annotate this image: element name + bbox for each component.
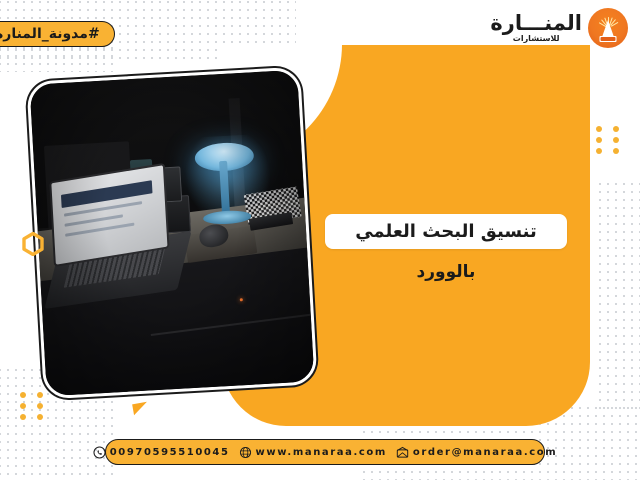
globe-icon	[239, 446, 252, 459]
page-subtitle: بالوورد	[417, 262, 476, 282]
website-url: www.manaraa.com	[256, 447, 387, 458]
brand-tagline: للاستشارات	[513, 35, 560, 43]
hero-subtitle: بالوورد	[325, 262, 567, 282]
brand-logo-text: المنـــارة للاستشارات	[490, 13, 582, 43]
hashtag-badge: #مدونة_المنارة	[0, 21, 115, 47]
sun-rays-icon	[608, 17, 609, 18]
hero-title-pill: تنسيق البحث العلمي	[325, 214, 567, 249]
email-address: order@manaraa.com	[413, 447, 557, 458]
hashtag-label: #مدونة_المنارة	[0, 26, 100, 42]
hexagon-outline-icon	[21, 232, 45, 256]
contact-phone[interactable]: 00970595510045	[93, 446, 230, 459]
photo-frame	[26, 67, 317, 400]
page-title: تنسيق البحث العلمي	[355, 221, 537, 242]
whatsapp-icon	[93, 446, 106, 459]
contact-email[interactable]: order@manaraa.com	[396, 446, 557, 459]
dot-grid-icon	[20, 392, 43, 424]
lighthouse-base-icon	[600, 36, 617, 42]
hero-photo	[35, 74, 307, 394]
triangle-icon	[132, 402, 149, 415]
brand-name: المنـــارة	[490, 13, 582, 34]
contact-bar: 00970595510045 www.manaraa.com order@man…	[105, 439, 545, 465]
phone-number: 00970595510045	[110, 447, 230, 458]
workspace-photo-image	[30, 70, 315, 396]
poster-canvas: #مدونة_المنارة المنـــارة للاستشارات	[0, 0, 640, 480]
envelope-icon	[396, 446, 409, 459]
dotted-texture-icon	[596, 180, 640, 410]
lighthouse-emblem-icon	[588, 8, 628, 48]
dot-grid-icon	[596, 126, 619, 158]
contact-website[interactable]: www.manaraa.com	[239, 446, 387, 459]
brand-logo: المنـــارة للاستشارات	[490, 8, 628, 48]
